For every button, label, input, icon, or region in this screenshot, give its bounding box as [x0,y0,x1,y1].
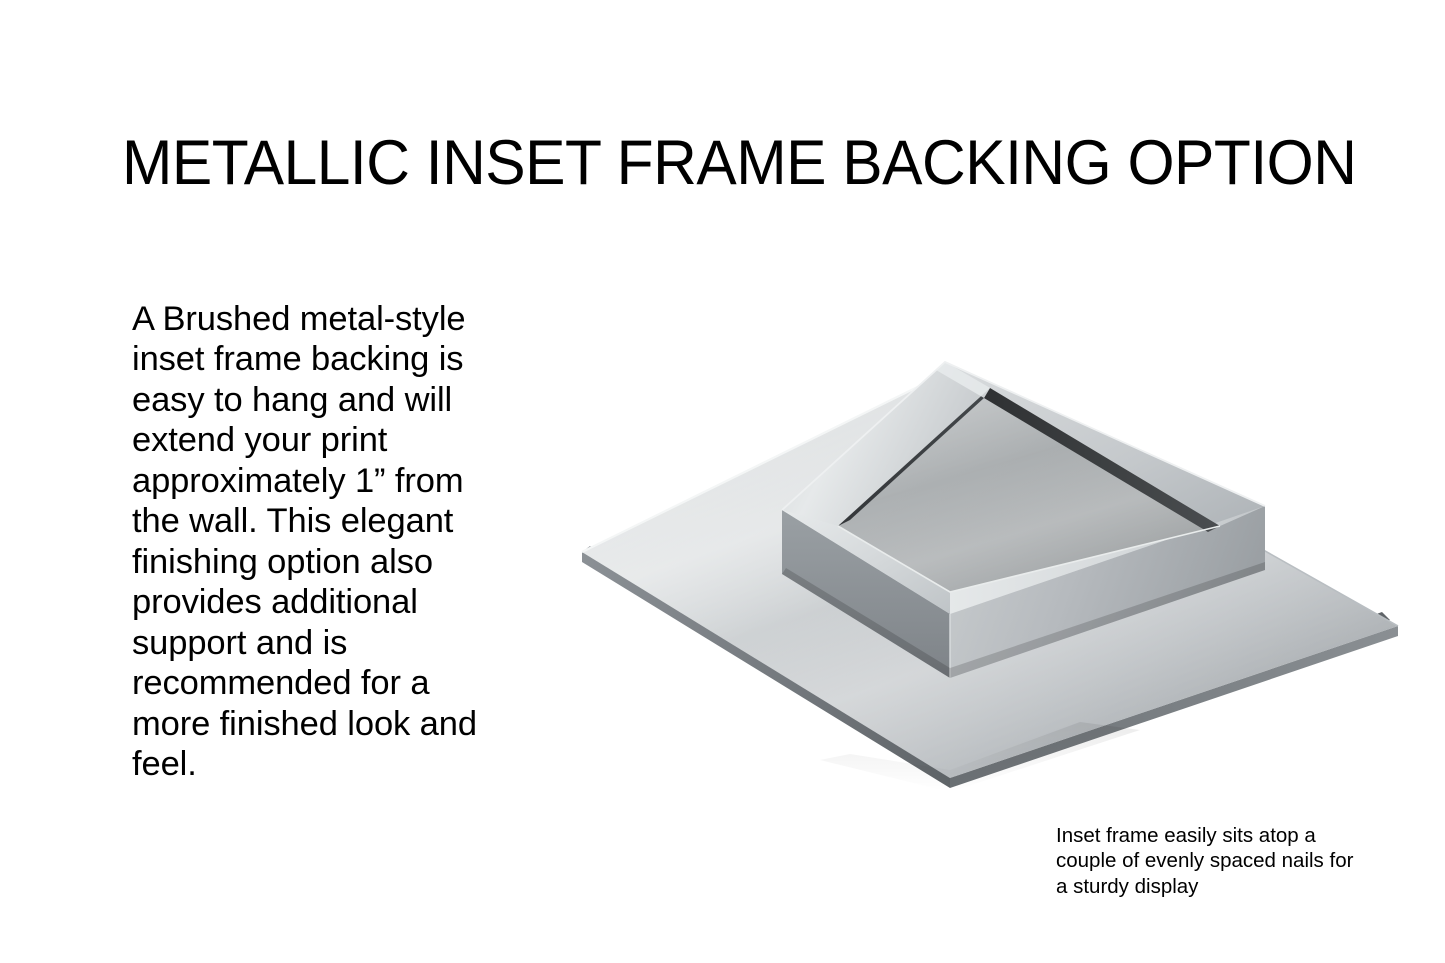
metallic-inset-frame-illustration [520,330,1420,810]
inset-frame-svg [520,330,1420,810]
description-paragraph: A Brushed metal-style inset frame backin… [132,299,484,785]
slide-canvas: METALLIC INSET FRAME BACKING OPTION A Br… [0,0,1445,963]
illustration-caption: Inset frame easily sits atop a couple of… [1056,823,1366,900]
page-title: METALLIC INSET FRAME BACKING OPTION [122,130,1274,196]
